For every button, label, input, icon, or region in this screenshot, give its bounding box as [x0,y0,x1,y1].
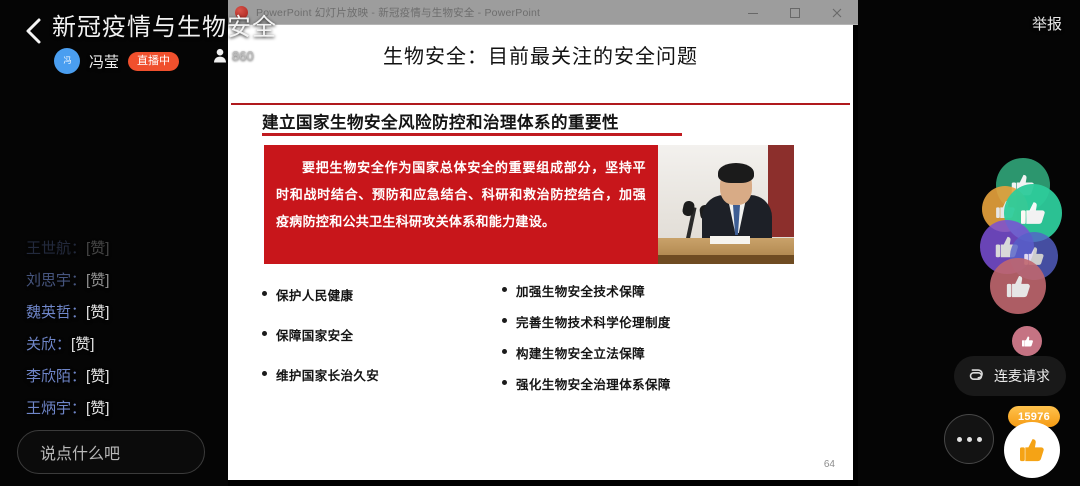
list-item: 维护国家长治久安 [262,365,502,384]
mic-request-label: 连麦请求 [994,366,1050,386]
window-controls [732,0,858,25]
bullet-dot-icon [502,380,507,385]
host-name: 冯莹 [89,51,119,72]
thumbs-up-icon [1003,271,1034,302]
maximize-icon[interactable] [774,0,816,25]
chat-author: 王炳宇 [26,400,71,417]
powerpoint-titlebar: PowerPoint 幻灯片放映 - 新冠疫情与生物安全 - PowerPoin… [228,0,858,25]
status-badge[interactable]: 直播中 [128,52,179,71]
chat-author: 关欣 [26,336,56,353]
key-points-right-column: 加强生物安全技术保障 完善生物技术科学伦理制度 构建生物安全立法保障 [502,281,802,393]
thumbs-up-icon [1021,243,1047,269]
thumbs-up-icon [1017,197,1049,229]
slideshow-stage: 生物安全：目前最关注的安全问题 建立国家生物安全风险防控和治理体系的重要性 要把… [228,25,858,486]
thumbs-up-icon [1020,334,1035,349]
floating-like-bubble [996,158,1050,212]
slide-heading: 建立国家生物安全风险防控和治理体系的重要性 [262,109,619,133]
right-action-rail: 连麦请求 15976 [858,0,1080,486]
floating-like-bubble [980,220,1034,274]
chat-author: 王世航 [26,240,71,257]
list-item-label: 强化生物安全治理体系保障 [516,374,671,393]
list-item-label: 加强生物安全技术保障 [516,281,645,300]
chat-text: [赞] [86,240,109,257]
like-button[interactable] [1004,422,1060,478]
like-control[interactable]: 15976 [1004,406,1064,478]
thumbs-up-icon [992,232,1022,262]
person-icon [213,48,227,63]
live-stream-screen: PowerPoint 幻灯片放映 - 新冠疫情与生物安全 - PowerPoin… [0,0,1080,486]
list-item-label: 完善生物技术科学伦理制度 [516,312,671,331]
comment-input[interactable]: 说点什么吧 [17,430,205,474]
list-item-label: 保障国家安全 [276,325,353,344]
dot-icon [977,437,982,442]
quote-callout: 要把生物安全作为国家总体安全的重要组成部分，坚持平时和战时结合、预防和应急结合、… [264,145,658,264]
chat-text: [赞] [86,400,109,417]
close-icon[interactable] [816,0,858,25]
bullet-dot-icon [502,318,507,323]
list-item-label: 保护人民健康 [276,285,353,304]
chat-author: 魏英哲 [26,304,71,321]
slide-title: 生物安全：目前最关注的安全问题 [228,40,853,69]
list-item: 保护人民健康 [262,285,502,304]
list-item: 加强生物安全技术保障 [502,281,802,300]
bullet-dot-icon [502,287,507,292]
chat-author: 李欣陌 [26,368,71,385]
chat-text: [赞] [86,304,109,321]
floating-like-animation [952,158,1062,358]
list-item: 保障国家安全 [262,325,502,344]
mic-request-button[interactable]: 连麦请求 [954,356,1066,396]
viewer-count[interactable]: 860 [213,48,254,63]
chat-text: [赞] [71,336,94,353]
powerpoint-window-title: PowerPoint 幻灯片放映 - 新冠疫情与生物安全 - PowerPoin… [256,5,540,20]
slide-body: 建立国家生物安全风险防控和治理体系的重要性 要把生物安全作为国家总体安全的重要组… [228,109,853,480]
list-item: 魏英哲：[赞] [26,303,254,322]
chat-separator: ： [71,304,86,321]
dot-icon [967,437,972,442]
key-points-left-column: 保护人民健康 保障国家安全 维护国家长治久安 [262,281,502,393]
floating-like-bubble [982,186,1028,232]
host-info: 冯 冯莹 直播中 [54,48,179,74]
list-item: 王炳宇：[赞] [26,399,254,418]
title-divider [231,103,850,105]
list-item-label: 维护国家长治久安 [276,365,379,384]
list-item: 完善生物技术科学伦理制度 [502,312,802,331]
minimize-icon[interactable] [732,0,774,25]
chat-separator: ： [71,368,86,385]
chat-separator: ： [71,240,86,257]
powerpoint-logo-icon [235,6,248,19]
chat-separator: ： [71,272,86,289]
thumbs-up-icon [1016,434,1048,466]
link-mic-icon [965,365,987,387]
chevron-left-icon [24,17,42,45]
viewer-count-label: 860 [232,48,254,63]
list-item: 王世航：[赞] [26,239,254,258]
slide-canvas: 生物安全：目前最关注的安全问题 建立国家生物安全风险防控和治理体系的重要性 要把… [228,25,853,480]
chat-separator: ： [56,336,71,353]
chat-separator: ： [71,400,86,417]
chat-author: 刘思宇 [26,272,71,289]
back-button[interactable] [18,14,48,48]
report-button[interactable]: 举报 [1032,13,1062,34]
bullet-dot-icon [502,349,507,354]
chat-message-list[interactable]: 王世航：[赞] 刘思宇：[赞] 魏英哲：[赞] 关欣：[赞] 李欣陌：[赞] 王… [0,239,268,418]
floating-like-bubble [1004,184,1062,242]
heading-underline [262,133,682,136]
floating-like-bubble [1010,232,1058,280]
list-item: 刘思宇：[赞] [26,271,254,290]
list-item: 强化生物安全治理体系保障 [502,374,802,393]
chat-text: [赞] [86,272,109,289]
quote-text: 要把生物安全作为国家总体安全的重要组成部分，坚持平时和战时结合、预防和应急结合、… [276,154,646,235]
list-item: 构建生物安全立法保障 [502,343,802,362]
speaker-at-podium-photo [658,145,794,264]
more-options-button[interactable] [944,414,994,464]
slide-page-number: 64 [824,459,835,470]
key-points-columns: 保护人民健康 保障国家安全 维护国家长治久安 [262,281,822,393]
floating-like-bubble [1012,326,1042,356]
chat-text: [赞] [86,368,109,385]
thumbs-up-icon [993,197,1018,222]
dot-icon [957,437,962,442]
list-item-label: 构建生物安全立法保障 [516,343,645,362]
thumbs-up-icon [1008,170,1038,200]
powerpoint-window: PowerPoint 幻灯片放映 - 新冠疫情与生物安全 - PowerPoin… [228,0,858,486]
avatar[interactable]: 冯 [54,48,80,74]
list-item: 李欣陌：[赞] [26,367,254,386]
list-item: 关欣：[赞] [26,335,254,354]
floating-like-bubble [990,258,1046,314]
comment-input-placeholder: 说点什么吧 [40,440,120,464]
